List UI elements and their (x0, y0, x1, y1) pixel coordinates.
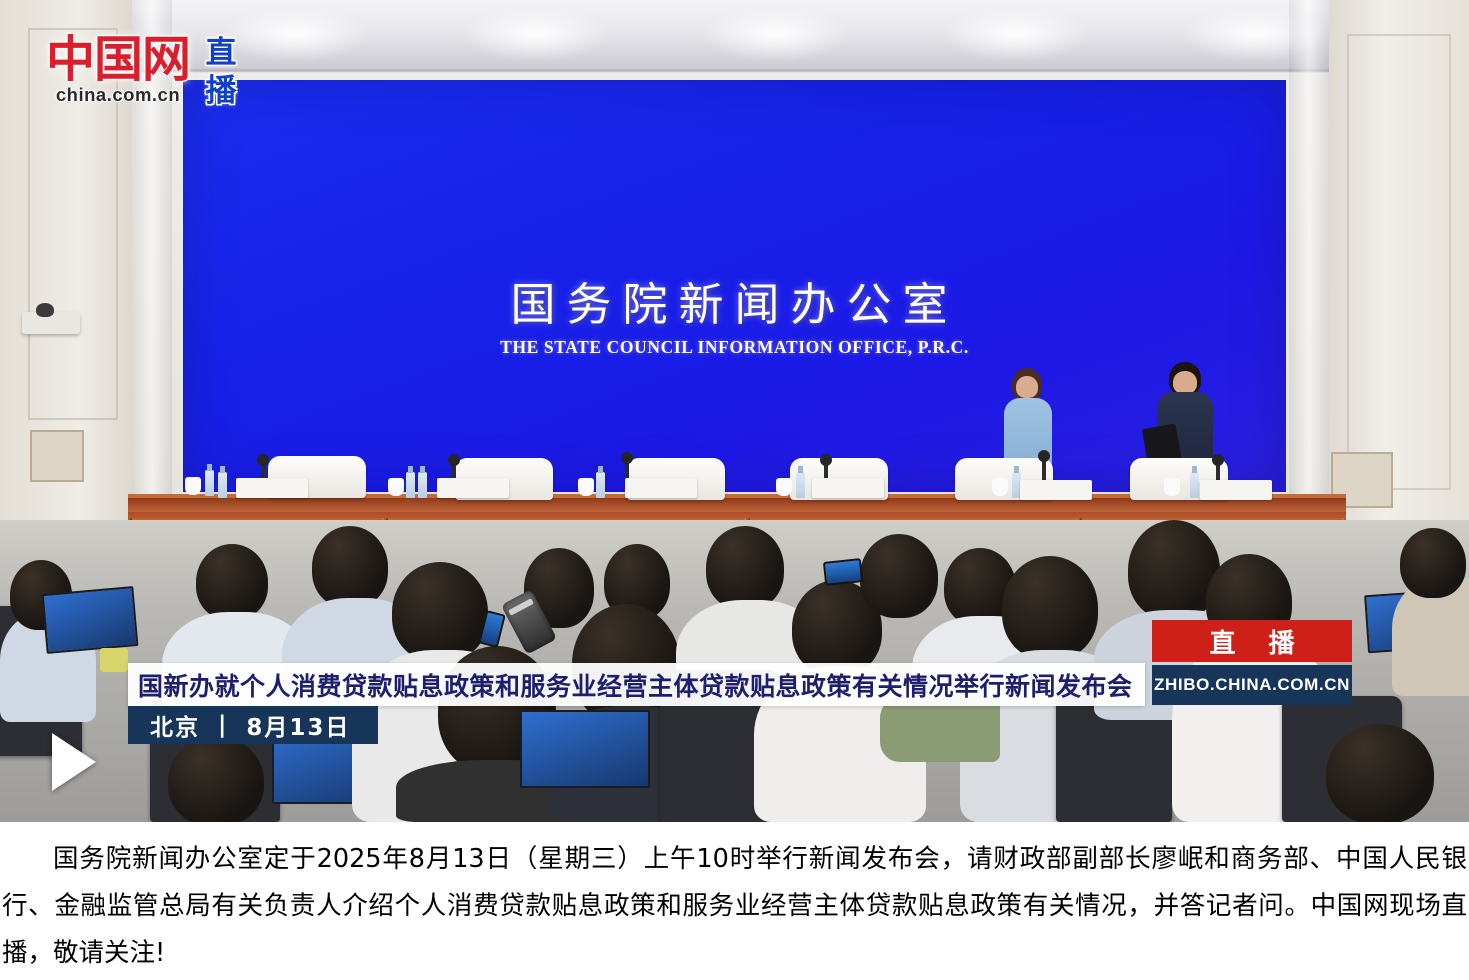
lower-third-city: 北京 (128, 708, 200, 742)
water-bottle (406, 472, 415, 498)
live-badge-red-block: 直 播 (1152, 620, 1352, 662)
wall-right (1329, 0, 1469, 610)
led-backdrop: 国务院新闻办公室 THE STATE COUNCIL INFORMATION O… (183, 80, 1286, 492)
lower-third-headline: 国新办就个人消费贷款贴息政策和服务业经营主体贷款贴息政策有关情况举行新闻发布会 (128, 667, 1133, 703)
logo-brand-cn: 中国网 (46, 34, 190, 86)
water-bottle (596, 472, 605, 498)
ceiling-light-panel (130, 0, 1420, 72)
logo-live-label: 直播 (204, 34, 238, 110)
water-bottle (418, 472, 427, 498)
water-bottle (1190, 472, 1199, 498)
water-bottle (796, 472, 805, 498)
wall-vent-left (30, 430, 84, 482)
name-plate (1200, 480, 1272, 500)
name-plate (625, 478, 697, 498)
water-bottle (205, 470, 214, 496)
page-root: 国务院新闻办公室 THE STATE COUNCIL INFORMATION O… (0, 0, 1469, 980)
backdrop-title-cn: 国务院新闻办公室 (183, 268, 1286, 333)
lower-third-headline-bar: 国新办就个人消费贷款贴息政策和服务业经营主体贷款贴息政策有关情况举行新闻发布会 (128, 663, 1145, 706)
caption-area: 国务院新闻办公室定于2025年8月13日（星期三）上午10时举行新闻发布会，请财… (0, 822, 1469, 980)
name-plate (236, 478, 308, 498)
lower-third-date: 8月13日 (228, 708, 350, 742)
live-badge-navy-block: ZHIBO.CHINA.COM.CN (1152, 665, 1352, 705)
tea-cup (776, 478, 792, 496)
tea-cup (185, 477, 201, 495)
caption-text: 国务院新闻办公室定于2025年8月13日（星期三）上午10时举行新闻发布会，请财… (2, 836, 1467, 977)
tea-cup (578, 478, 594, 496)
live-badge: 直 播 ZHIBO.CHINA.COM.CN (1152, 620, 1352, 705)
video-player[interactable]: 国务院新闻办公室 THE STATE COUNCIL INFORMATION O… (0, 0, 1469, 822)
live-badge-label: 直 播 (1197, 623, 1306, 660)
live-badge-domain: ZHIBO.CHINA.COM.CN (1154, 675, 1350, 695)
lower-third-meta-bar: 北京 | 8月13日 (128, 706, 378, 744)
play-icon[interactable] (52, 733, 96, 791)
tea-cup (388, 478, 404, 496)
backdrop-title-en: THE STATE COUNCIL INFORMATION OFFICE, P.… (183, 337, 1286, 358)
tea-cup (992, 478, 1008, 496)
tea-cup (1164, 478, 1180, 496)
ceiling-camera-icon (22, 312, 80, 334)
channel-logo: 中国网 china.com.cn 直播 (46, 34, 238, 110)
lower-third-separator: | (200, 712, 228, 738)
water-bottle (218, 472, 227, 498)
name-plate (812, 478, 884, 498)
name-plate (1020, 480, 1092, 500)
name-plate (437, 478, 509, 498)
